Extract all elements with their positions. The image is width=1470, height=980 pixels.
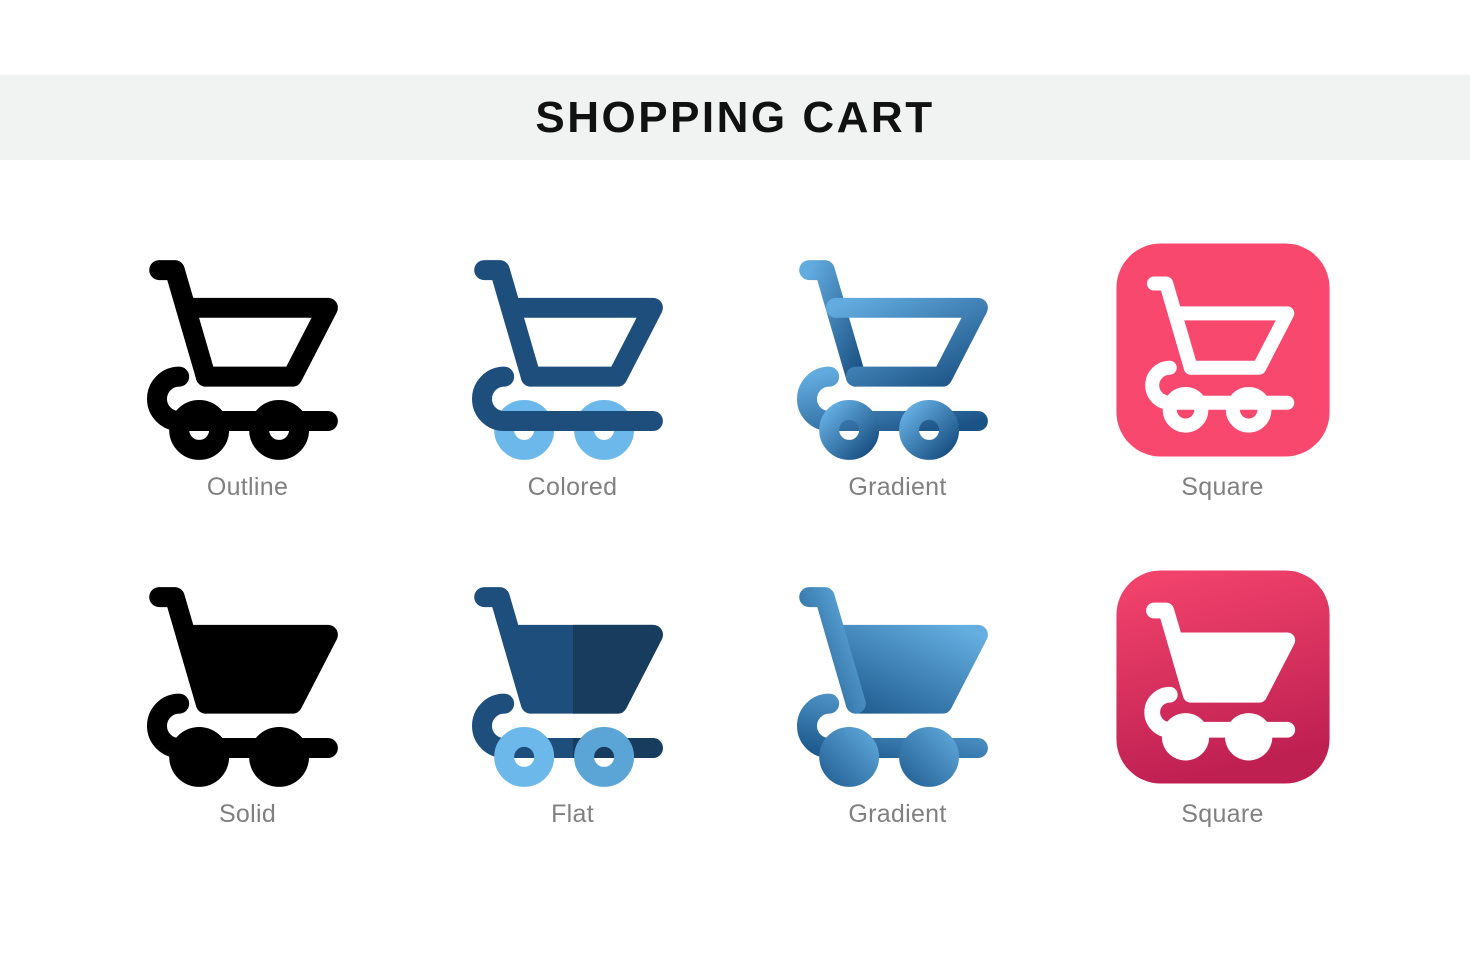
shopping-cart-icon[interactable] [458, 562, 688, 792]
icon-label: Gradient [848, 475, 946, 500]
cart-body [481, 270, 652, 421]
icon-cell-square-flat[interactable]: Square [1060, 235, 1385, 562]
page-title: SHOPPING CART [535, 96, 934, 140]
header-banner: SHOPPING CART [0, 75, 1470, 160]
icon-cell-flat[interactable]: Flat [410, 562, 735, 889]
icon-label: Colored [528, 475, 618, 500]
icon-cell-square-gradient[interactable]: Square [1060, 562, 1385, 889]
shopping-cart-icon[interactable] [783, 235, 1013, 465]
icon-label: Solid [219, 802, 276, 827]
shopping-cart-icon[interactable] [133, 562, 363, 792]
square-plate [1116, 243, 1329, 456]
icon-label: Outline [207, 475, 288, 500]
icon-label: Gradient [848, 802, 946, 827]
icon-grid: Outline Colored [85, 235, 1385, 889]
icon-label: Flat [551, 802, 594, 827]
icon-cell-outline[interactable]: Outline [85, 235, 410, 562]
shopping-cart-icon[interactable] [133, 235, 363, 465]
icon-label: Square [1181, 475, 1263, 500]
icon-cell-gradient-solid[interactable]: Gradient [735, 562, 1060, 889]
icon-cell-gradient-outline[interactable]: Gradient [735, 235, 1060, 562]
shopping-cart-icon[interactable] [458, 235, 688, 465]
icon-label: Square [1181, 802, 1263, 827]
icon-cell-solid[interactable]: Solid [85, 562, 410, 889]
shopping-cart-icon[interactable] [1108, 235, 1338, 465]
shopping-cart-icon[interactable] [783, 562, 1013, 792]
shopping-cart-icon[interactable] [1108, 562, 1338, 792]
icon-cell-colored[interactable]: Colored [410, 235, 735, 562]
